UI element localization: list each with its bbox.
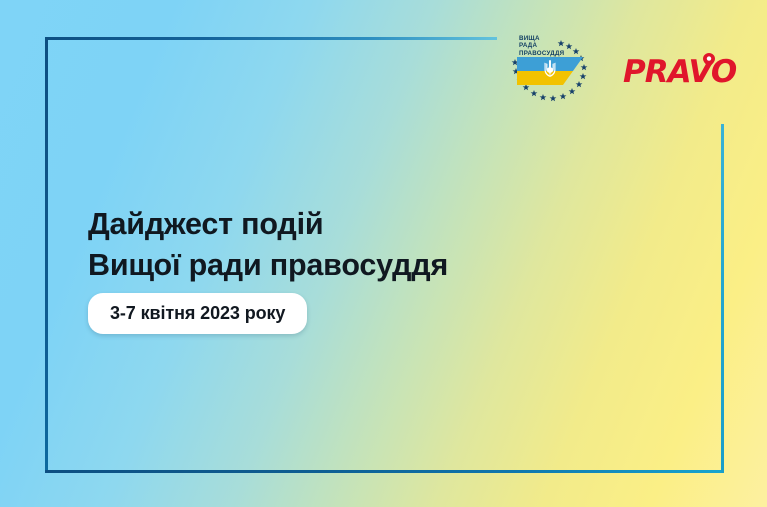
frame-bottom-line	[45, 470, 724, 473]
vrp-text-line-3: ПРАВОСУДДЯ	[519, 50, 564, 57]
logo-block: ВИЩА РАДА ПРАВОСУДДЯ PRAVO	[505, 33, 735, 108]
vrp-text-line-1: ВИЩА	[519, 35, 540, 42]
frame-right-line	[721, 124, 724, 473]
pravo-logo-text: PRAVO	[623, 55, 733, 89]
vrp-emblem: ВИЩА РАДА ПРАВОСУДДЯ	[505, 33, 605, 105]
page-title-line-2: Вищої ради правосуддя	[88, 245, 448, 286]
ukraine-flag-icon	[517, 57, 583, 85]
page-title-line-1: Дайджест подій	[88, 204, 448, 245]
digest-banner: ВИЩА РАДА ПРАВОСУДДЯ PRAVO	[0, 0, 767, 507]
location-pin-icon	[703, 53, 715, 67]
vrp-emblem-text: ВИЩА РАДА ПРАВОСУДДЯ	[519, 35, 564, 57]
frame-left-line	[45, 37, 48, 473]
date-range-badge: 3-7 квітня 2023 року	[88, 293, 307, 334]
vrp-text-line-2: РАДА	[519, 42, 537, 49]
frame-top-line	[45, 37, 497, 40]
pravo-logo[interactable]: PRAVO	[623, 55, 733, 97]
page-title: Дайджест подій Вищої ради правосуддя	[88, 204, 448, 286]
date-range-label: 3-7 квітня 2023 року	[110, 303, 285, 324]
